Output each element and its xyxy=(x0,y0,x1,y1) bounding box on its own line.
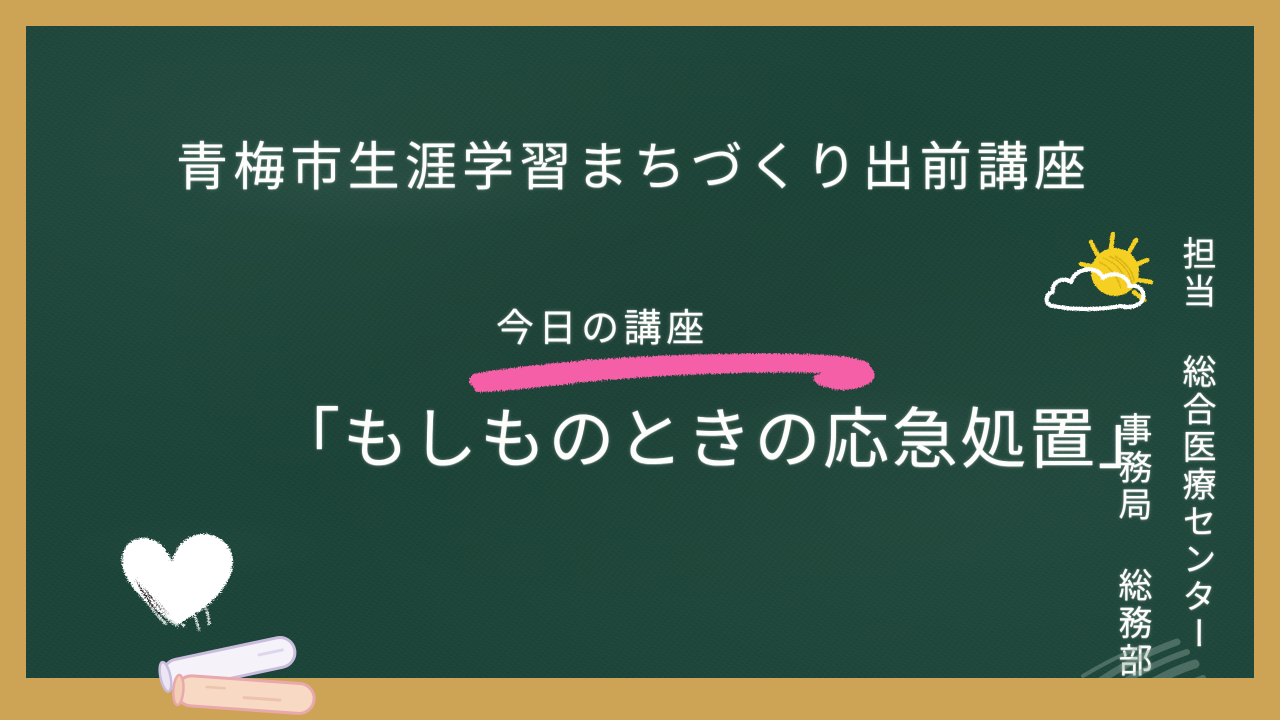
sun-cloud-icon xyxy=(1041,224,1181,324)
page-title: 青梅市生涯学習まちづくり出前講座 xyxy=(176,142,1091,194)
pink-underline-brushstroke xyxy=(466,344,886,396)
credit-column-department: 担当 総合医療センター xyxy=(1177,236,1214,653)
eraser-smudge-icon xyxy=(1081,624,1231,678)
today-lesson-label-wrap: 今日の講座 xyxy=(496,309,709,347)
slide-root: 青梅市生涯学習まちづくり出前講座 今日の講座 「もしものときの応急処置」 担当 … xyxy=(0,0,1280,720)
chalk-sticks-icon xyxy=(140,618,340,720)
lesson-title: 「もしものときの応急処置」 xyxy=(274,407,1166,473)
chalkboard-surface: 青梅市生涯学習まちづくり出前講座 今日の講座 「もしものときの応急処置」 担当 … xyxy=(26,26,1254,678)
today-lesson-label: 今日の講座 xyxy=(496,309,709,347)
